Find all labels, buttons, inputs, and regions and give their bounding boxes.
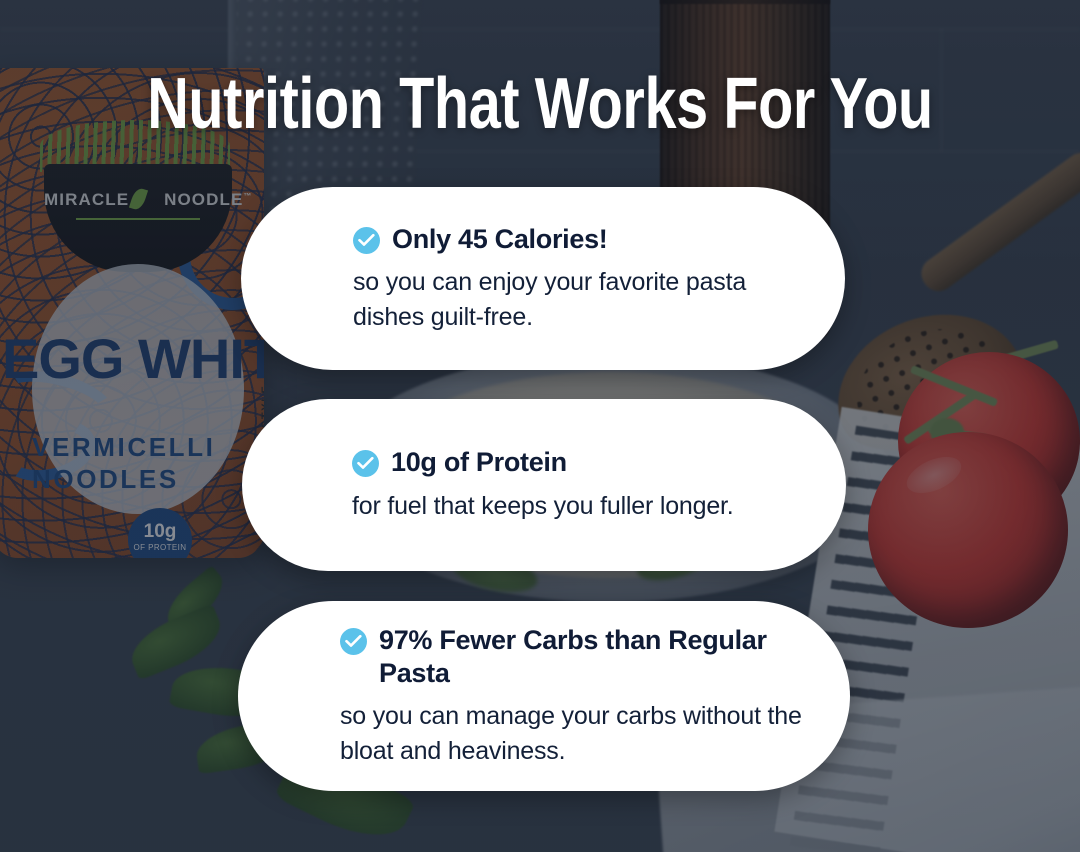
benefit-heading: 10g of Protein [391,446,567,479]
check-circle-icon [340,628,367,655]
benefit-body: for fuel that keeps you fuller longer. [242,479,846,524]
benefit-heading-row: 10g of Protein [242,446,846,479]
check-circle-icon [352,450,379,477]
benefit-heading-row: Only 45 Calories! [241,223,845,256]
benefit-heading: 97% Fewer Carbs than Regular Pasta [379,624,792,690]
promo-graphic: MIRACLE NOODLE™ EGG WHITE VERMICELLI NOO… [0,0,1080,852]
benefit-card-carbs: 97% Fewer Carbs than Regular Pasta so yo… [238,601,850,791]
page-title: Nutrition That Works For You [108,68,972,140]
benefit-heading-row: 97% Fewer Carbs than Regular Pasta [238,624,850,690]
benefit-heading: Only 45 Calories! [392,223,608,256]
benefit-card-protein: 10g of Protein for fuel that keeps you f… [242,399,846,571]
benefit-body: so you can enjoy your favorite pasta dis… [241,255,845,334]
benefit-body: so you can manage your carbs without the… [238,689,850,768]
benefit-card-calories: Only 45 Calories! so you can enjoy your … [241,187,845,370]
check-circle-icon [353,227,380,254]
